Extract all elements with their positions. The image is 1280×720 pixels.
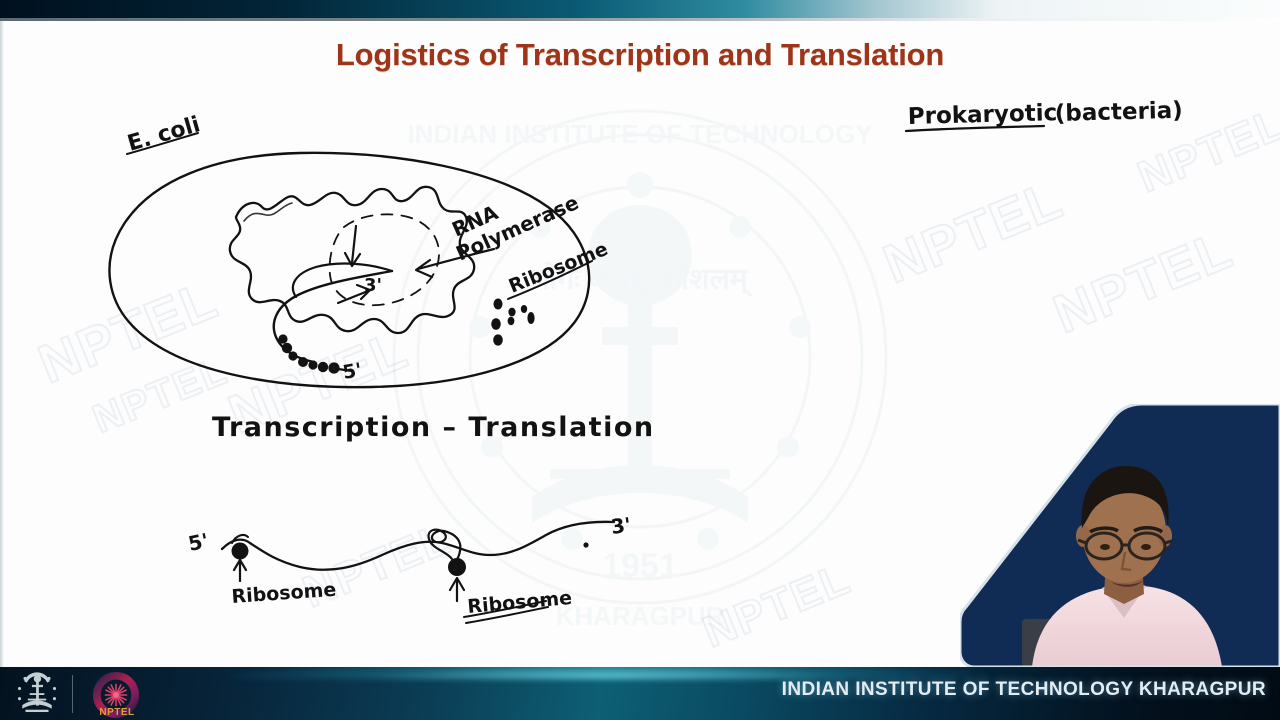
bottom-banner: NPTEL INDIAN INSTITUTE OF TECHNOLOGY KHA… [0,667,1280,720]
banner-divider [72,675,73,713]
lecture-video-frame: योगः कर्मसु कौशलम् 1951 INDIAN INSTITUTE… [0,0,1280,720]
five-prime-label-cell: 5' [341,359,364,384]
three-prime-label: 3' [364,275,382,296]
ribosome-right: Ribosome [429,530,573,623]
iit-kharagpur-seal-icon [14,672,60,718]
presenter-video-image [960,404,1280,667]
nptel-logo-text: NPTEL [92,707,142,718]
institute-name: INDIAN INSTITUTE OF TECHNOLOGY KHARAGPUR [782,679,1266,701]
bacteria-label: (bacteria) [1054,98,1183,127]
top-decorative-bar [0,0,1280,18]
three-prime-label-mrna: 3' [609,512,632,539]
transcription-direction-arrow [345,226,360,266]
annotation-prokaryotic: Prokaryotic (bacteria) [906,98,1183,131]
ribosome-label-cell: Ribosome [506,238,611,298]
polysome-beads [278,334,339,373]
five-prime-label-mrna: 5' [186,528,211,556]
ribosome-left: Ribosome [231,535,337,608]
free-ribosome-dots [491,299,534,346]
bacterial-cell-outline [109,153,589,387]
process-label: Transcription – Translation [212,412,655,443]
banner-glow [230,667,990,679]
annotation-ecoli: E. coli [125,112,203,157]
rna-polymerase-bubble [330,214,439,305]
ribosome-left-label: Ribosome [231,579,337,608]
mrna-strand-lower [222,522,614,570]
annotation-ribosome-cell: Ribosome [506,238,611,299]
presenter-video-inset[interactable] [960,404,1280,667]
